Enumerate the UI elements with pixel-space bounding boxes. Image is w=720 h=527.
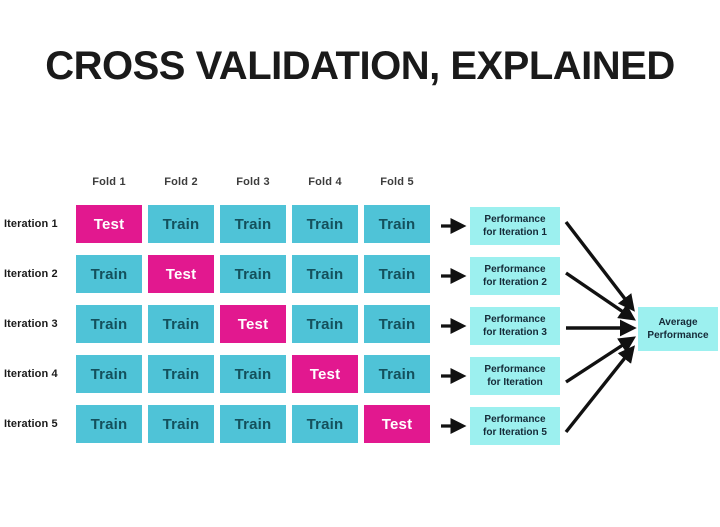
fold-cell-r3c1: Train: [76, 305, 142, 343]
fold-cell-r4c3: Train: [220, 355, 286, 393]
fold-cell-r5c5: Test: [364, 405, 430, 443]
fold-cell-r3c4: Train: [292, 305, 358, 343]
iteration-label-4: Iteration 4: [4, 368, 72, 380]
performance-box-2-line1: Performance: [484, 263, 545, 276]
fold-cell-r3c5: Train: [364, 305, 430, 343]
performance-box-4-line1: Performance: [484, 363, 545, 376]
fold-cell-r5c3: Train: [220, 405, 286, 443]
iteration-label-2: Iteration 2: [4, 268, 72, 280]
fold-cell-r1c5: Train: [364, 205, 430, 243]
page-title: CROSS VALIDATION, EXPLAINED: [0, 44, 720, 89]
performance-box-4-line2: for Iteration: [487, 376, 543, 389]
performance-box-2-line2: for Iteration 2: [483, 276, 547, 289]
fold-cell-r2c5: Train: [364, 255, 430, 293]
converge-arrow-1: [566, 222, 632, 308]
average-performance-line2: Performance: [647, 329, 708, 342]
fold-cell-r5c1: Train: [76, 405, 142, 443]
performance-box-3-line2: for Iteration 3: [483, 326, 547, 339]
iteration-label-1: Iteration 1: [4, 218, 72, 230]
fold-cell-r4c4: Test: [292, 355, 358, 393]
fold-cell-r4c2: Train: [148, 355, 214, 393]
fold-cell-r1c4: Train: [292, 205, 358, 243]
iteration-label-5: Iteration 5: [4, 418, 72, 430]
fold-header-4: Fold 4: [292, 176, 358, 188]
fold-cell-r5c4: Train: [292, 405, 358, 443]
performance-box-3: Performance for Iteration 3: [470, 307, 560, 345]
average-performance-line1: Average: [658, 316, 697, 329]
fold-cell-r1c2: Train: [148, 205, 214, 243]
performance-box-3-line1: Performance: [484, 313, 545, 326]
performance-box-5-line1: Performance: [484, 413, 545, 426]
fold-cell-r1c3: Train: [220, 205, 286, 243]
fold-cell-r4c1: Train: [76, 355, 142, 393]
converge-arrow-4: [566, 339, 632, 382]
fold-cell-r2c2: Test: [148, 255, 214, 293]
average-performance-box: Average Performance: [638, 307, 718, 351]
fold-cell-r2c1: Train: [76, 255, 142, 293]
performance-box-2: Performance for Iteration 2: [470, 257, 560, 295]
performance-box-5-line2: for Iteration 5: [483, 426, 547, 439]
fold-cell-r2c4: Train: [292, 255, 358, 293]
fold-header-5: Fold 5: [364, 176, 430, 188]
performance-box-1-line1: Performance: [484, 213, 545, 226]
converge-arrow-2: [566, 273, 632, 318]
fold-header-2: Fold 2: [148, 176, 214, 188]
performance-box-4: Performance for Iteration: [470, 357, 560, 395]
fold-cell-r5c2: Train: [148, 405, 214, 443]
fold-cell-r2c3: Train: [220, 255, 286, 293]
diagram-canvas: CROSS VALIDATION, EXPLAINED Fold 1 Fold …: [0, 0, 720, 527]
fold-header-1: Fold 1: [76, 176, 142, 188]
performance-box-1-line2: for Iteration 1: [483, 226, 547, 239]
fold-cell-r4c5: Train: [364, 355, 430, 393]
fold-cell-r3c2: Train: [148, 305, 214, 343]
iteration-label-3: Iteration 3: [4, 318, 72, 330]
performance-box-1: Performance for Iteration 1: [470, 207, 560, 245]
fold-header-3: Fold 3: [220, 176, 286, 188]
fold-cell-r1c1: Test: [76, 205, 142, 243]
performance-box-5: Performance for Iteration 5: [470, 407, 560, 445]
converge-arrow-5: [566, 349, 632, 432]
fold-cell-r3c3: Test: [220, 305, 286, 343]
